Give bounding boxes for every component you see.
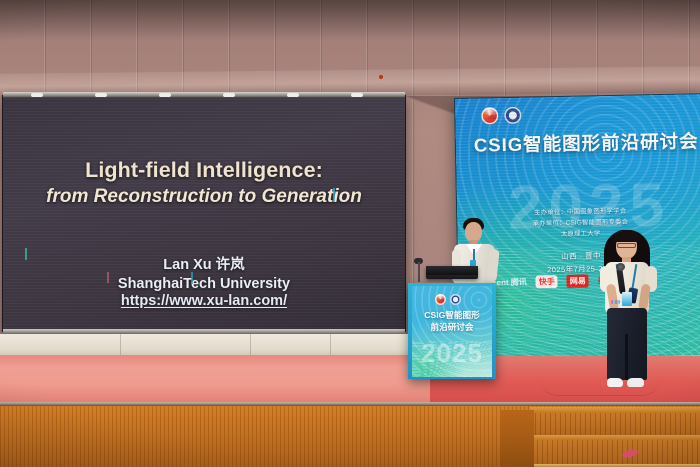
host-badge (622, 292, 632, 306)
slide-affiliation: ShanghaiTech University (118, 275, 290, 294)
slide-subtitle: from Reconstruction to Generation (46, 186, 362, 208)
banner-logo-row (481, 107, 521, 125)
laptop-lid (426, 266, 478, 275)
lectern-title-line-1: CSIG智能图形 (415, 310, 489, 322)
lectern-graphic-panel: CSIG智能图形 前沿研讨会 2025 (412, 286, 492, 377)
slide-author: Lan Xu 许岚 (118, 256, 290, 275)
wristband (611, 300, 620, 304)
conference-stage-photo: Light-field Intelligence: from Reconstru… (0, 0, 700, 467)
ceiling-shadow (0, 0, 700, 40)
lectern-year: 2025 (412, 338, 492, 369)
dead-pixel-pink (107, 272, 109, 283)
stair-side-wall (500, 410, 534, 467)
slide-content: Light-field Intelligence: from Reconstru… (3, 96, 405, 331)
organizer-line-1: 主办单位：中国图象图形学学会 (485, 205, 675, 220)
speaker-right-arm (486, 249, 499, 283)
stage-kick-panel (0, 334, 410, 356)
csig-logo (435, 294, 446, 305)
dead-pixel-cyan (333, 188, 335, 202)
banner-sponsor-row: Tencent 腾讯 快手 网易 美图 (478, 272, 693, 289)
host-left-shoe (607, 378, 623, 387)
banner-title: CSIG智能图形前沿研讨会 (474, 128, 689, 158)
host-leg-split (625, 334, 628, 380)
stage-stairs[interactable] (500, 410, 700, 467)
slide-homepage-link[interactable]: https://www.xu-lan.com/ (118, 293, 290, 309)
stair-tread-upper (530, 407, 700, 413)
red-indicator-light (379, 75, 383, 79)
sponsor-kuaishou: 快手 (536, 275, 558, 288)
dead-pixel-teal (191, 272, 193, 284)
slide-author-block: Lan Xu 许岚 ShanghaiTech University https:… (118, 256, 290, 309)
speaker-head (465, 222, 482, 242)
stair-tread-lower (512, 435, 700, 440)
sponsor-netease: 网易 (567, 274, 589, 287)
stair-step-lower (512, 438, 700, 467)
host-fringe (613, 230, 640, 242)
stair-step-upper (530, 410, 700, 438)
glasses-icon (617, 243, 636, 248)
csig-logo (481, 107, 498, 124)
lectern: CSIG智能图形 前沿研讨会 2025 (408, 283, 496, 379)
laptop[interactable] (426, 266, 478, 279)
university-seal-logo (504, 107, 521, 124)
lectern-title-line-2: 前沿研讨会 (415, 322, 489, 334)
university-seal-logo (450, 294, 461, 305)
gooseneck-microphone-stand (418, 262, 420, 282)
presentation-screen[interactable]: Light-field Intelligence: from Reconstru… (3, 96, 405, 331)
dead-pixel-green (25, 248, 27, 260)
host-right-shoe (627, 378, 644, 387)
lectern-title: CSIG智能图形 前沿研讨会 (415, 310, 489, 333)
host-with-microphone (596, 222, 660, 394)
slide-title: Light-field Intelligence: (85, 158, 323, 183)
lectern-logo-row (435, 294, 461, 305)
